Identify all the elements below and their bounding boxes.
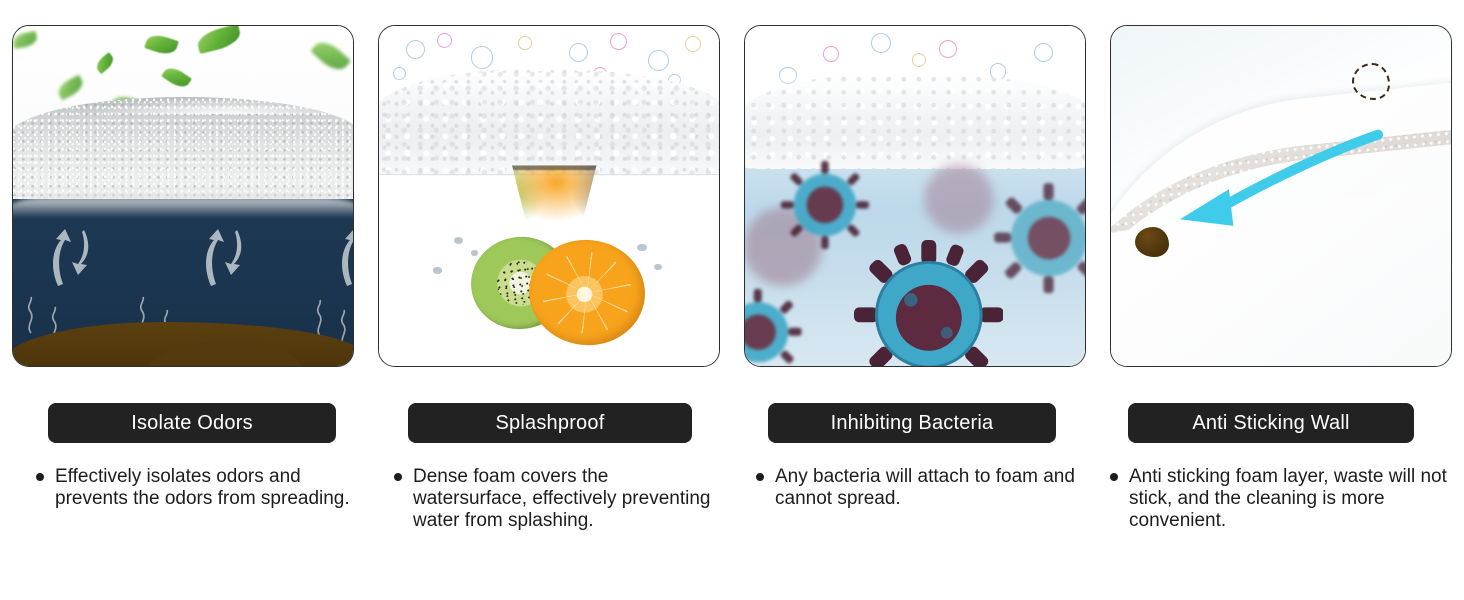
feature-panel-anti-sticking-wall: Anti Sticking Wall Anti sticking foam la… (1098, 0, 1464, 600)
circulation-arrows-icon (333, 216, 353, 290)
feature-panel-splashproof: Splashproof Dense foam covers the waters… (366, 0, 732, 600)
bubble-icon (685, 36, 701, 52)
waste-blob (1135, 227, 1169, 258)
panel-bullet: Effectively isolates odors and prevents … (36, 466, 356, 510)
bacteria-particle (779, 159, 871, 251)
bubble-icon (823, 46, 839, 62)
odor-wisp-icon (23, 295, 39, 335)
illustration-card-anti-sticking-wall (1110, 25, 1452, 367)
panel-description: Anti sticking foam layer, waste will not… (1129, 466, 1460, 532)
panel-bullet: Anti sticking foam layer, waste will not… (1110, 466, 1460, 532)
panel-description: Any bacteria will attach to foam and can… (775, 466, 1076, 510)
panel-title-badge: Inhibiting Bacteria (768, 403, 1056, 443)
feature-infographic: Isolate Odors Effectively isolates odors… (0, 0, 1464, 600)
scene-splashproof (379, 26, 719, 366)
scene-isolate-odors (13, 26, 353, 366)
bubble-icon (939, 40, 957, 58)
bacteria-particle (854, 240, 1004, 366)
panel-title-badge: Splashproof (408, 403, 692, 443)
original-position-outline (1352, 63, 1390, 99)
panel-description: Dense foam covers the watersurface, effe… (413, 466, 714, 532)
bullet-dot-icon (36, 473, 44, 481)
water-droplet-icon (433, 267, 441, 273)
circulation-arrows-icon (44, 216, 98, 290)
bullet-dot-icon (394, 473, 402, 481)
panel-title: Anti Sticking Wall (1192, 412, 1349, 435)
bubble-icon (406, 40, 425, 59)
water-droplet-icon (471, 250, 478, 255)
panel-bullet: Any bacteria will attach to foam and can… (756, 466, 1076, 510)
panel-title-badge: Isolate Odors (48, 403, 336, 443)
panel-title: Splashproof (496, 412, 605, 435)
scene-anti-sticking-wall (1111, 26, 1451, 366)
water-droplet-icon (654, 264, 661, 270)
illustration-card-splashproof (378, 25, 720, 367)
bacteria-particle (745, 288, 803, 366)
panel-title: Inhibiting Bacteria (831, 412, 994, 435)
feature-panel-isolate-odors: Isolate Odors Effectively isolates odors… (0, 0, 366, 600)
slide-arrow-icon (1159, 128, 1383, 250)
bullet-dot-icon (756, 473, 764, 481)
bacteria-particle (993, 182, 1085, 294)
bullet-dot-icon (1110, 473, 1118, 481)
panel-title: Isolate Odors (131, 412, 253, 435)
panel-bullet: Dense foam covers the watersurface, effe… (394, 466, 714, 532)
water-droplet-icon (637, 244, 647, 251)
bubble-icon (1034, 43, 1053, 62)
illustration-card-isolate-odors (12, 25, 354, 367)
feature-panel-inhibiting-bacteria: Inhibiting Bacteria Any bacteria will at… (732, 0, 1098, 600)
foam-layer (379, 70, 719, 175)
odor-wisp-icon (312, 298, 328, 338)
scene-inhibiting-bacteria (745, 26, 1085, 366)
circulation-arrows-icon (197, 216, 251, 290)
water-droplet-icon (454, 237, 463, 244)
illustration-card-inhibiting-bacteria (744, 25, 1086, 367)
panel-description: Effectively isolates odors and prevents … (55, 466, 356, 510)
panel-title-badge: Anti Sticking Wall (1128, 403, 1414, 443)
bubble-icon (518, 36, 532, 50)
bubble-icon (610, 33, 627, 50)
